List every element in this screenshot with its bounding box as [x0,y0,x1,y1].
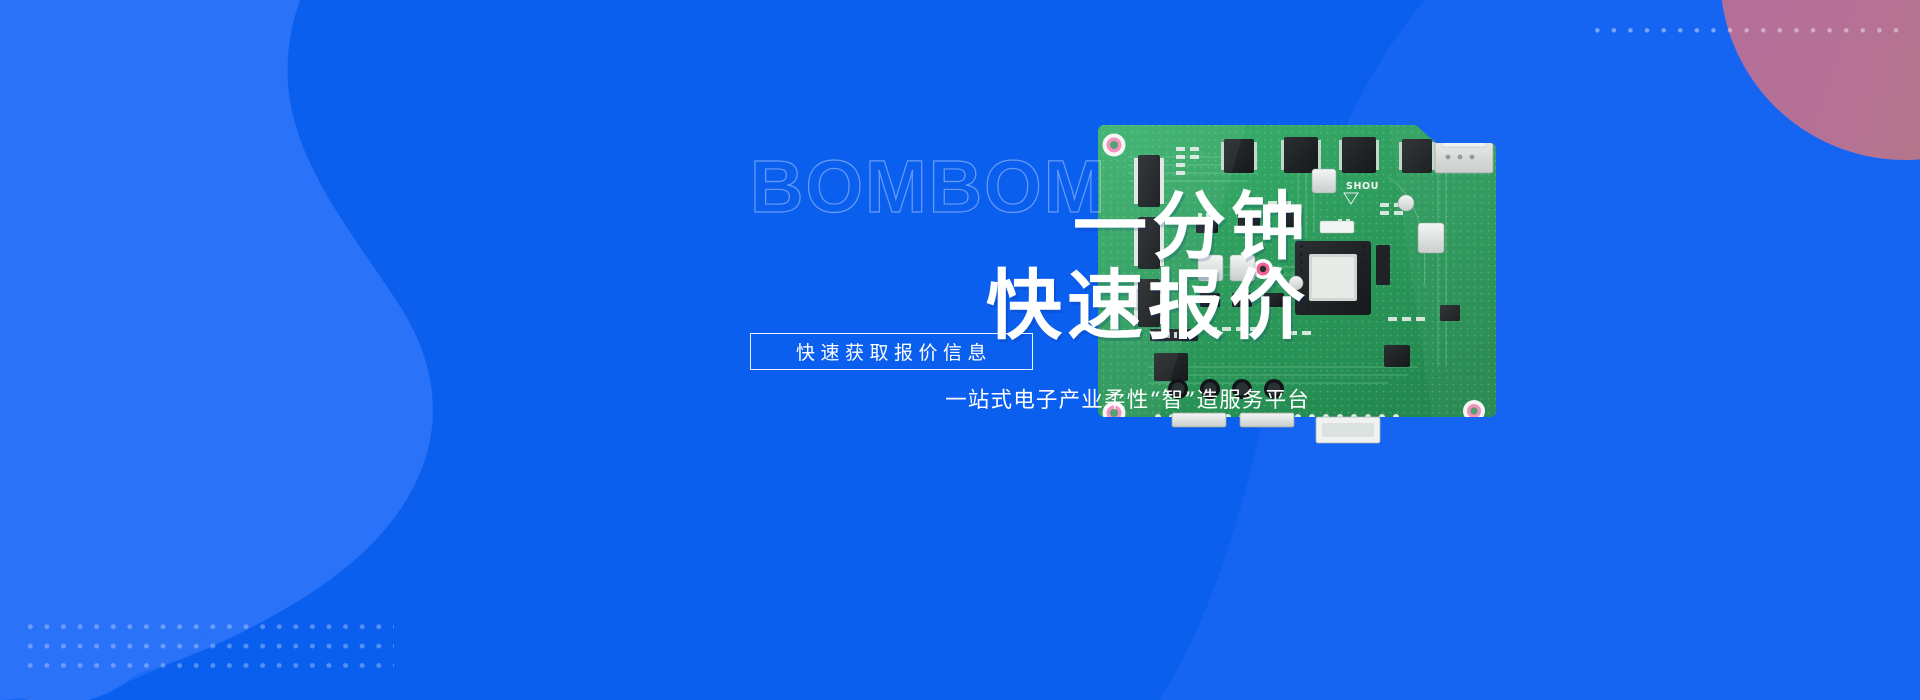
promo-banner: SHOU [0,0,1920,700]
headline-group: 一分钟 快速报价 [690,192,1310,343]
platform-tagline: 一站式电子产业柔性“智”造服务平台 [690,383,1310,414]
quote-info-badge-label: 快速获取报价信息 [791,338,992,365]
quote-info-badge[interactable]: 快速获取报价信息 [750,333,1033,370]
dot-grid-top-right [1589,22,1905,44]
silkscreen-text: SHOU [1346,181,1379,192]
dot-grid-bottom-left [22,617,394,675]
edge-connectors [1172,413,1380,443]
headline-line-1: 一分钟 [690,192,1310,263]
